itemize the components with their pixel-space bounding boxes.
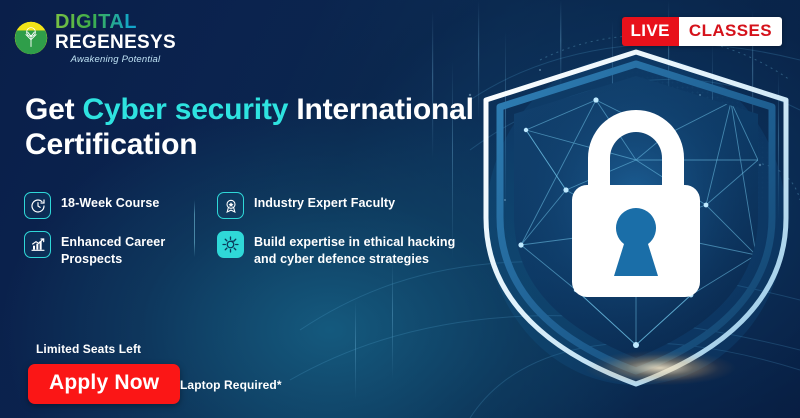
logo-tagline: Awakening Potential — [55, 55, 176, 65]
limited-seats-text: Limited Seats Left — [36, 342, 141, 356]
classes-label: CLASSES — [679, 17, 782, 46]
feature-item-expert-faculty: Industry Expert Faculty — [217, 192, 465, 219]
page-title: Get Cyber security International Certifi… — [25, 92, 485, 163]
feature-label: Enhanced Career Prospects — [61, 231, 194, 267]
apply-now-button[interactable]: Apply Now — [28, 364, 180, 404]
bar-chart-growth-icon — [24, 231, 51, 258]
feature-item-ethical-hacking: Build expertise in ethical hacking and c… — [217, 231, 465, 267]
feature-column-left: 18-Week Course Enhanced Career Prospects — [24, 192, 194, 267]
live-label: LIVE — [622, 17, 679, 46]
security-shield-artwork — [466, 40, 800, 390]
headline-part1: Get — [25, 93, 83, 126]
clock-icon — [24, 192, 51, 219]
gear-settings-icon — [217, 231, 244, 258]
feature-label: 18-Week Course — [61, 192, 159, 212]
logo-secondary-name: REGENESYS — [55, 33, 176, 52]
feature-column-right: Industry Expert Faculty Build expertise … — [195, 192, 465, 267]
feature-item-course-duration: 18-Week Course — [24, 192, 194, 219]
brand-logo[interactable]: DIGITAL REGENESYS Awakening Potential — [14, 12, 176, 65]
live-classes-badge: LIVE CLASSES — [622, 17, 782, 46]
award-badge-icon — [217, 192, 244, 219]
laptop-requirement-text: Laptop Required* — [180, 378, 282, 392]
tree-circle-logo-icon — [14, 21, 48, 55]
feature-label: Build expertise in ethical hacking and c… — [254, 231, 465, 267]
logo-primary-name: DIGITAL — [55, 12, 176, 32]
security-shield-icon — [466, 40, 800, 390]
feature-list: 18-Week Course Enhanced Career Prospects — [24, 192, 474, 267]
feature-label: Industry Expert Faculty — [254, 192, 395, 212]
feature-item-career-prospects: Enhanced Career Prospects — [24, 231, 194, 267]
promo-banner: DIGITAL REGENESYS Awakening Potential LI… — [0, 0, 800, 418]
headline-accent: Cyber security — [83, 93, 289, 126]
